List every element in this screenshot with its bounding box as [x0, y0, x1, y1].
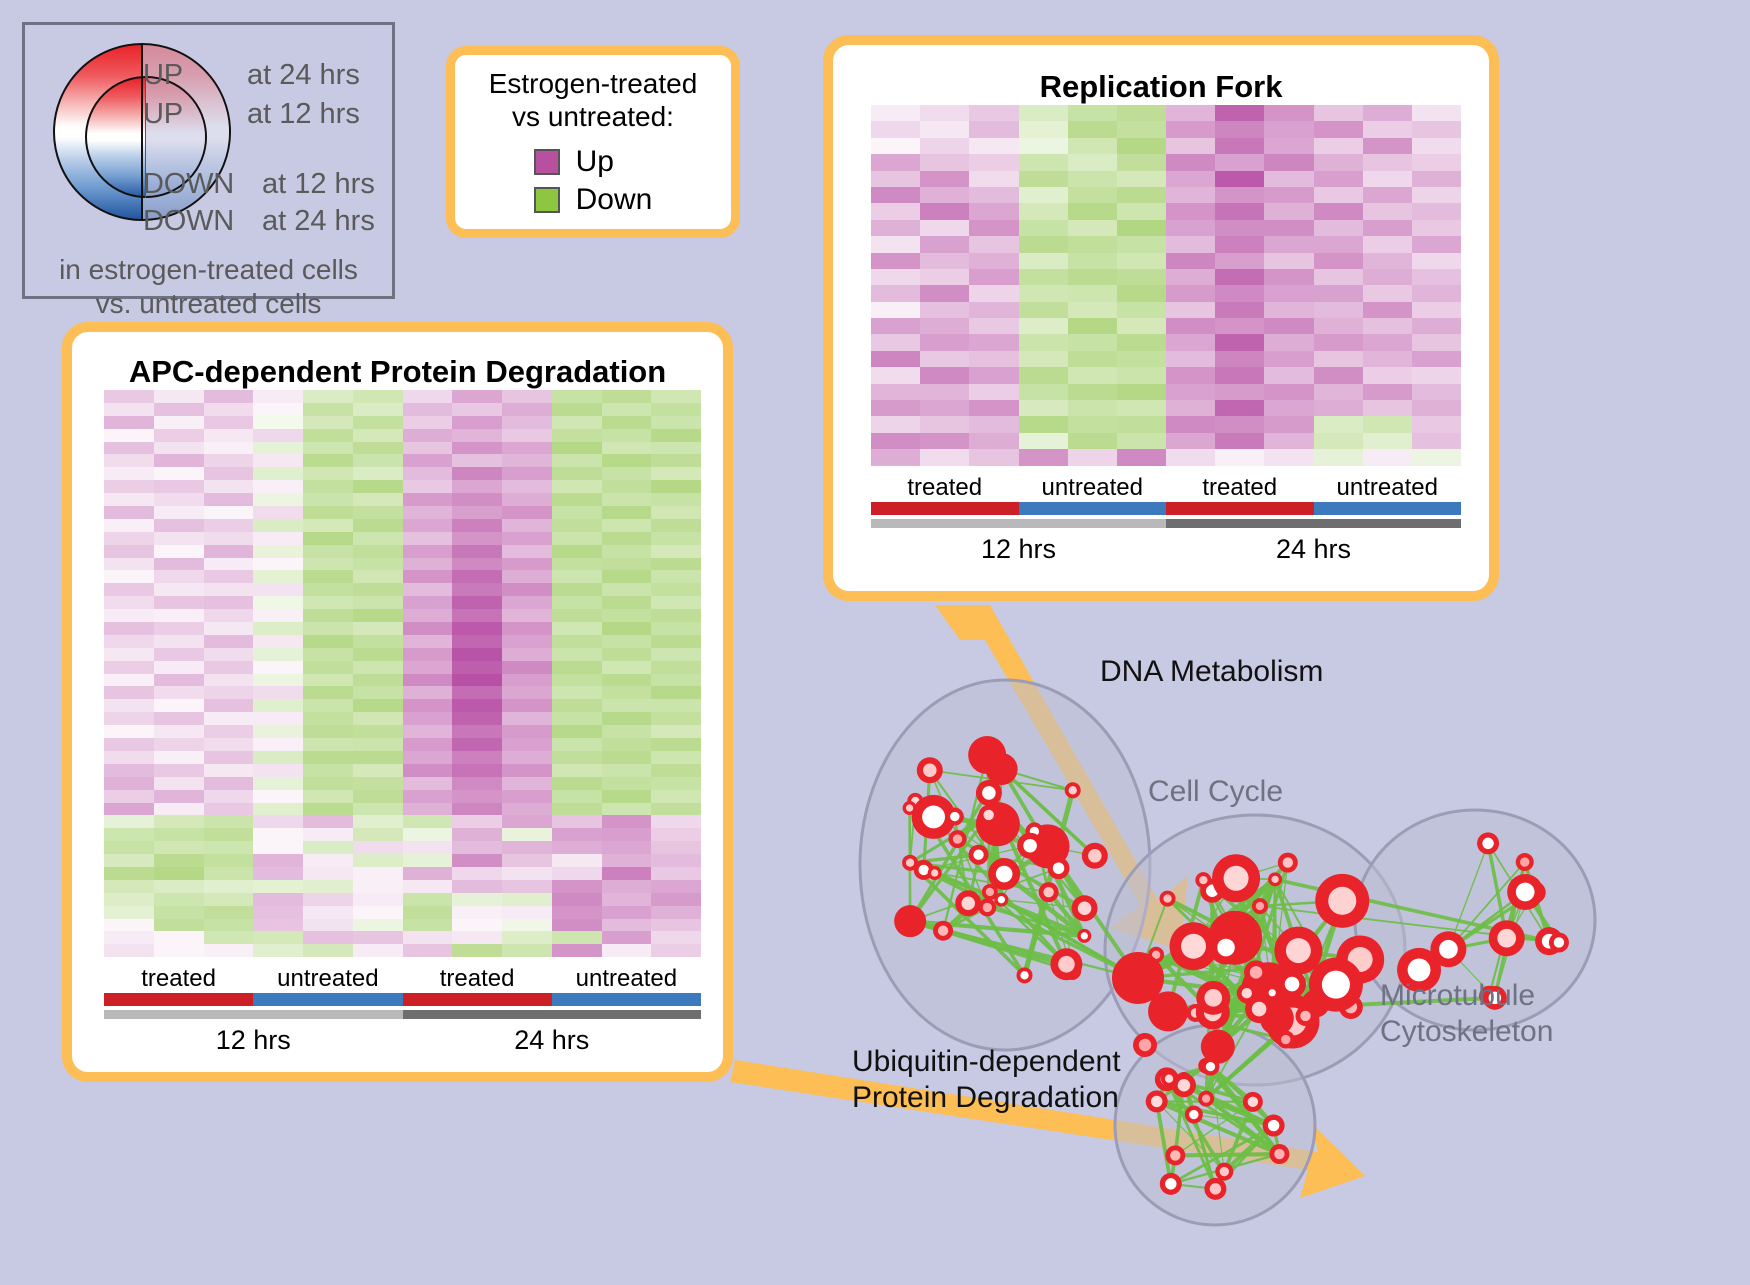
heatmap-cell	[403, 390, 453, 403]
heatmap-cell	[1363, 351, 1412, 367]
heatmap-cell	[969, 334, 1018, 350]
heatmap-cell	[1166, 236, 1215, 252]
heatmap-cell	[502, 442, 552, 455]
heatmap-cell	[303, 403, 353, 416]
heatmap-cell	[1215, 367, 1264, 383]
heatmap-cell	[1068, 220, 1117, 236]
heatmap-cell	[1314, 384, 1363, 400]
heatmap-cell	[1068, 203, 1117, 219]
heatmap-cell	[253, 751, 303, 764]
heatmap-cell	[651, 570, 701, 583]
heatmap-cell	[353, 854, 403, 867]
heatmap-cell	[353, 803, 403, 816]
network-node-core	[1516, 883, 1535, 902]
heatmap-cell	[104, 558, 154, 571]
network-node-core	[1206, 1062, 1215, 1071]
heatmap-cell	[154, 390, 204, 403]
heatmap-cell	[303, 622, 353, 635]
heatmap-cell	[502, 467, 552, 480]
heatmap-cell	[1068, 384, 1117, 400]
heatmap-cell	[602, 454, 652, 467]
heatmap-cell	[1166, 433, 1215, 449]
heatmap-cell	[969, 203, 1018, 219]
heatmap-cell	[1264, 220, 1313, 236]
heatmap-cell	[303, 712, 353, 725]
heatmap-cell	[154, 815, 204, 828]
network-node-core	[1163, 894, 1171, 902]
heatmap-cell	[1068, 334, 1117, 350]
heatmap-cell	[1068, 138, 1117, 154]
heatmap-cell	[403, 506, 453, 519]
network-node-core	[950, 812, 959, 821]
heatmap-cell	[403, 648, 453, 661]
heatmap-cell	[1314, 449, 1363, 465]
heatmap-cell	[651, 764, 701, 777]
heatmap-cell	[403, 725, 453, 738]
treatment-bar-segment	[1166, 502, 1314, 515]
heatmap-cell	[353, 622, 403, 635]
heatmap-cell	[154, 919, 204, 932]
heatmap-cell	[303, 390, 353, 403]
group-label: treated	[871, 474, 1019, 502]
heatmap-cell	[154, 519, 204, 532]
heatmap-cell	[253, 648, 303, 661]
network-node-core	[982, 786, 996, 800]
network-node-core	[1078, 901, 1092, 915]
heatmap-cell	[651, 545, 701, 558]
heatmap-cell	[552, 493, 602, 506]
heatmap-cell	[651, 712, 701, 725]
heatmap-cell	[552, 570, 602, 583]
heatmap-cell	[154, 712, 204, 725]
network-node-core	[1020, 971, 1028, 979]
heatmap-cell	[303, 545, 353, 558]
heatmap-cell	[1215, 154, 1264, 170]
heatmap-cell	[104, 738, 154, 751]
heatmap-cell	[552, 558, 602, 571]
heatmap-cell	[1215, 416, 1264, 432]
heatmap-cell	[651, 777, 701, 790]
heatmap-cell	[303, 416, 353, 429]
heatmap-cell	[303, 738, 353, 751]
heatmap-cell	[104, 803, 154, 816]
axis-labels-apc: treateduntreatedtreateduntreated	[104, 965, 701, 993]
heatmap-cell	[1117, 318, 1166, 334]
heatmap-cell	[552, 699, 602, 712]
treatment-bar-segment	[403, 993, 552, 1006]
heatmap-cell	[552, 906, 602, 919]
heatmap-cell	[452, 403, 502, 416]
updown-title-line1: Estrogen-treated	[489, 67, 698, 100]
network-node-core	[983, 810, 993, 820]
heatmap-cell	[651, 493, 701, 506]
heatmap-cell	[253, 519, 303, 532]
heatmap-cell	[602, 609, 652, 622]
heatmap-cell	[1215, 203, 1264, 219]
heatmap-cell	[602, 506, 652, 519]
heatmap-cell	[303, 609, 353, 622]
heatmap-cell	[154, 906, 204, 919]
heatmap-cell	[552, 803, 602, 816]
heatmap-cell	[104, 416, 154, 429]
heatmap-cell	[154, 931, 204, 944]
heatmap-cell	[403, 532, 453, 545]
network-node-core	[1178, 1079, 1190, 1091]
heatmap-cell	[1166, 334, 1215, 350]
network-node-core	[1252, 1002, 1267, 1017]
heatmap-cell	[602, 545, 652, 558]
heatmap-cell	[403, 674, 453, 687]
heatmap-cell	[552, 893, 602, 906]
heatmap-cell	[502, 506, 552, 519]
up-swatch-icon	[534, 149, 560, 175]
heatmap-cell	[1363, 400, 1412, 416]
treatment-bar-segment	[1019, 502, 1167, 515]
heatmap-cell	[104, 622, 154, 635]
heatmap-cell	[204, 558, 254, 571]
heatmap-cell	[452, 519, 502, 532]
network-node-core	[1256, 902, 1264, 910]
heatmap-cell	[920, 269, 969, 285]
heatmap-cell	[104, 699, 154, 712]
heatmap-cell	[651, 609, 701, 622]
network-node-core	[1058, 956, 1075, 973]
heatmap-cell	[353, 454, 403, 467]
heatmap-cell	[253, 815, 303, 828]
network-node-core	[923, 764, 937, 778]
heatmap-cell	[1117, 154, 1166, 170]
heatmap-cell	[1215, 171, 1264, 187]
heatmap-cell	[1068, 236, 1117, 252]
heatmap-cell	[969, 171, 1018, 187]
heatmap-cell	[403, 442, 453, 455]
heatmap-cell	[154, 467, 204, 480]
network-node-core	[1181, 934, 1206, 959]
panel-apc-degradation: APC-dependent Protein Degradation treate…	[62, 322, 733, 1082]
heatmap-cell	[1068, 171, 1117, 187]
heatmap-cell	[353, 712, 403, 725]
heatmap-cell	[969, 416, 1018, 432]
heatmap-cell	[1166, 171, 1215, 187]
heatmap-cell	[104, 712, 154, 725]
heatmap-cell	[403, 403, 453, 416]
heatmap-cell	[253, 841, 303, 854]
heatmap-cell	[1412, 187, 1461, 203]
heatmap-cell	[452, 803, 502, 816]
heatmap-cell	[403, 416, 453, 429]
heatmap-cell	[502, 429, 552, 442]
heatmap-cell	[651, 880, 701, 893]
heatmap-cell	[303, 506, 353, 519]
heatmap-cell	[253, 712, 303, 725]
network-node-core	[1151, 1096, 1162, 1107]
heatmap-cell	[104, 596, 154, 609]
heatmap-cell	[452, 493, 502, 506]
heatmap-cell	[1412, 253, 1461, 269]
heatmap-cell	[1166, 400, 1215, 416]
heatmap-cell	[552, 738, 602, 751]
heatmap-cell	[1166, 203, 1215, 219]
legend-state-down-24: DOWN	[143, 205, 234, 238]
network-node-core	[1023, 839, 1037, 853]
heatmap-cell	[1215, 236, 1264, 252]
heatmap-cell	[969, 384, 1018, 400]
heatmap-cell	[602, 738, 652, 751]
heatmap-cell	[502, 893, 552, 906]
heatmap-cell	[452, 893, 502, 906]
heatmap-cell	[602, 906, 652, 919]
heatmap-cell	[920, 384, 969, 400]
heatmap-cell	[651, 699, 701, 712]
heatmap-cell	[1264, 138, 1313, 154]
heatmap-cell	[353, 906, 403, 919]
heatmap-cell	[353, 506, 403, 519]
updown-title-line2: vs untreated:	[489, 100, 698, 133]
heatmap-cell	[253, 790, 303, 803]
heatmap-cell	[452, 751, 502, 764]
heatmap-cell	[1412, 285, 1461, 301]
heatmap-cell	[452, 583, 502, 596]
network-node-core	[1053, 863, 1064, 874]
heatmap-cell	[920, 285, 969, 301]
heatmap-cell	[920, 236, 969, 252]
cluster-label-microtubule: Microtubule Cytoskeleton	[1380, 978, 1553, 1050]
heatmap-cell	[871, 269, 920, 285]
heatmap-cell	[1363, 154, 1412, 170]
legend-label-down: Down	[576, 183, 653, 217]
heatmap-cell	[204, 493, 254, 506]
heatmap-cell	[452, 545, 502, 558]
heatmap-cell	[104, 828, 154, 841]
heatmap-cell	[1314, 400, 1363, 416]
heatmap-cell	[1019, 384, 1068, 400]
heatmap-cell	[353, 661, 403, 674]
network-node-core	[1189, 1110, 1198, 1119]
heatmap-cell	[154, 403, 204, 416]
heatmap-cell	[969, 351, 1018, 367]
heatmap-cell	[502, 738, 552, 751]
heatmap-cell	[403, 880, 453, 893]
heatmap-cell	[253, 674, 303, 687]
heatmap-cell	[552, 790, 602, 803]
treatment-bar-segment	[552, 993, 701, 1006]
heatmap-cell	[452, 712, 502, 725]
heatmap-cell	[1166, 253, 1215, 269]
heatmap-cell	[104, 519, 154, 532]
heatmap-cell	[1264, 105, 1313, 121]
heatmap-cell	[920, 318, 969, 334]
heatmap-cell	[403, 803, 453, 816]
heatmap-cell	[1264, 318, 1313, 334]
heatmap-cell	[1117, 416, 1166, 432]
heatmap-cell	[651, 854, 701, 867]
treatment-bar-replication-fork	[871, 502, 1461, 515]
heatmap-cell	[154, 699, 204, 712]
network-node-core	[1328, 887, 1356, 915]
heatmap-cell	[602, 686, 652, 699]
heatmap-cell	[1117, 269, 1166, 285]
heatmap-cell	[452, 558, 502, 571]
heatmap-cell	[403, 751, 453, 764]
heatmap-cell	[204, 686, 254, 699]
network-node-core	[1224, 866, 1249, 891]
heatmap-cell	[502, 454, 552, 467]
heatmap-cell	[303, 841, 353, 854]
heatmap-cell	[651, 583, 701, 596]
heatmap-cell	[969, 220, 1018, 236]
heatmap-cell	[253, 764, 303, 777]
network-node-core	[998, 896, 1005, 903]
heatmap-cell	[1363, 449, 1412, 465]
heatmap-cell	[502, 712, 552, 725]
heatmap-cell	[1264, 416, 1313, 432]
heatmap-cell	[871, 236, 920, 252]
heatmap-cell	[1314, 220, 1363, 236]
heatmap-cell	[204, 648, 254, 661]
heatmap-cell	[552, 854, 602, 867]
heatmap-cell	[253, 558, 303, 571]
heatmap-cell	[602, 854, 652, 867]
heatmap-cell	[502, 880, 552, 893]
heatmap-cell	[1117, 138, 1166, 154]
updown-legend-card: Estrogen-treated vs untreated: Up Down	[446, 46, 740, 238]
heatmap-cell	[1412, 203, 1461, 219]
network-diagram: DNA Metabolism Cell Cycle Microtubule Cy…	[790, 620, 1750, 1280]
heatmap-cell	[602, 493, 652, 506]
network-node-core	[1274, 1149, 1284, 1159]
heatmap-cell	[154, 828, 204, 841]
heatmap-cell	[154, 570, 204, 583]
heatmap-cell	[154, 893, 204, 906]
legend-time-down-12: at 12 hrs	[262, 168, 375, 201]
heatmap-cell	[104, 841, 154, 854]
heatmap-cell	[502, 841, 552, 854]
heatmap-cell	[1117, 121, 1166, 137]
heatmap-cell	[353, 777, 403, 790]
heatmap-cell	[353, 558, 403, 571]
heatmap-cell	[1068, 302, 1117, 318]
heatmap-cell	[303, 635, 353, 648]
heatmap-cell	[1117, 105, 1166, 121]
heatmap-cell	[303, 467, 353, 480]
heatmap-cell	[1166, 302, 1215, 318]
network-node-core	[938, 925, 948, 935]
timepoint-label: 24 hrs	[403, 1025, 702, 1056]
heatmap-cell	[204, 712, 254, 725]
heatmap-cell	[403, 738, 453, 751]
heatmap-cell	[452, 854, 502, 867]
heatmap-cell	[154, 674, 204, 687]
network-node-core	[906, 859, 914, 867]
heatmap-cell	[104, 661, 154, 674]
heatmap-cell	[1117, 367, 1166, 383]
heatmap-cell	[651, 519, 701, 532]
legend-label-up: Up	[576, 145, 614, 179]
heatmap-cell	[452, 944, 502, 957]
network-node-core	[1482, 838, 1493, 849]
panel-title-replication-fork: Replication Fork	[833, 69, 1489, 105]
heatmap-cell	[353, 648, 403, 661]
heatmap-cell	[303, 751, 353, 764]
heatmap-cell	[303, 854, 353, 867]
legend-row-down: Down	[534, 183, 653, 217]
heatmap-cell	[1019, 138, 1068, 154]
heatmap-cell	[104, 480, 154, 493]
heatmap-cell	[1412, 416, 1461, 432]
heatmap-cell	[1215, 433, 1264, 449]
network-node-core	[1300, 1011, 1310, 1021]
heatmap-cell	[253, 622, 303, 635]
heatmap-cell	[403, 609, 453, 622]
heatmap-cell	[1117, 384, 1166, 400]
heatmap-cell	[353, 815, 403, 828]
heatmap-cell	[969, 302, 1018, 318]
heatmap-cell	[1314, 253, 1363, 269]
heatmap-cell	[253, 777, 303, 790]
heatmap-cell	[920, 433, 969, 449]
heatmap-cell	[502, 944, 552, 957]
group-label: untreated	[1314, 474, 1462, 502]
heatmap-cell	[969, 318, 1018, 334]
heatmap-cell	[1068, 400, 1117, 416]
heatmap-cell	[1019, 187, 1068, 203]
heatmap-cell	[1068, 351, 1117, 367]
heatmap-cell	[1019, 220, 1068, 236]
heatmap-cell	[1166, 367, 1215, 383]
heatmap-cell	[1412, 433, 1461, 449]
heatmap-cell	[154, 944, 204, 957]
heatmap-cell	[1363, 318, 1412, 334]
heatmap-cell	[871, 318, 920, 334]
heatmap-cell	[204, 635, 254, 648]
heatmap-cell	[1412, 105, 1461, 121]
heatmap-cell	[452, 661, 502, 674]
heatmap-cell	[253, 699, 303, 712]
network-node-core	[1217, 939, 1235, 957]
heatmap-cell	[552, 609, 602, 622]
heatmap-cell	[1314, 334, 1363, 350]
timepoint-bar-apc	[104, 1010, 701, 1019]
heatmap-cell	[303, 828, 353, 841]
timepoint-bar-replication-fork	[871, 519, 1461, 528]
heatmap-cell	[1117, 236, 1166, 252]
heatmap-cell	[1314, 203, 1363, 219]
heatmap-cell	[303, 777, 353, 790]
heatmap-cell	[871, 302, 920, 318]
heatmap-cell	[651, 867, 701, 880]
network-node-core	[1250, 966, 1262, 978]
heatmap-cell	[403, 545, 453, 558]
heatmap-cell	[920, 105, 969, 121]
heatmap-cell	[452, 841, 502, 854]
heatmap-cell	[452, 596, 502, 609]
heatmap-cell	[154, 506, 204, 519]
heatmap-cell	[303, 867, 353, 880]
heatmap-cell	[452, 699, 502, 712]
heatmap-cell	[353, 686, 403, 699]
heatmap-cell	[1166, 121, 1215, 137]
heatmap-cell	[602, 944, 652, 957]
heatmap-cell	[871, 334, 920, 350]
colorbar-footer-line1: in estrogen-treated cells	[25, 253, 392, 287]
heatmap-cell	[552, 931, 602, 944]
heatmap-cell	[104, 790, 154, 803]
timepoint-bar-segment	[403, 1010, 702, 1019]
heatmap-cell	[920, 154, 969, 170]
heatmap-cell	[303, 790, 353, 803]
heatmap-cell	[651, 480, 701, 493]
heatmap-cell	[154, 480, 204, 493]
